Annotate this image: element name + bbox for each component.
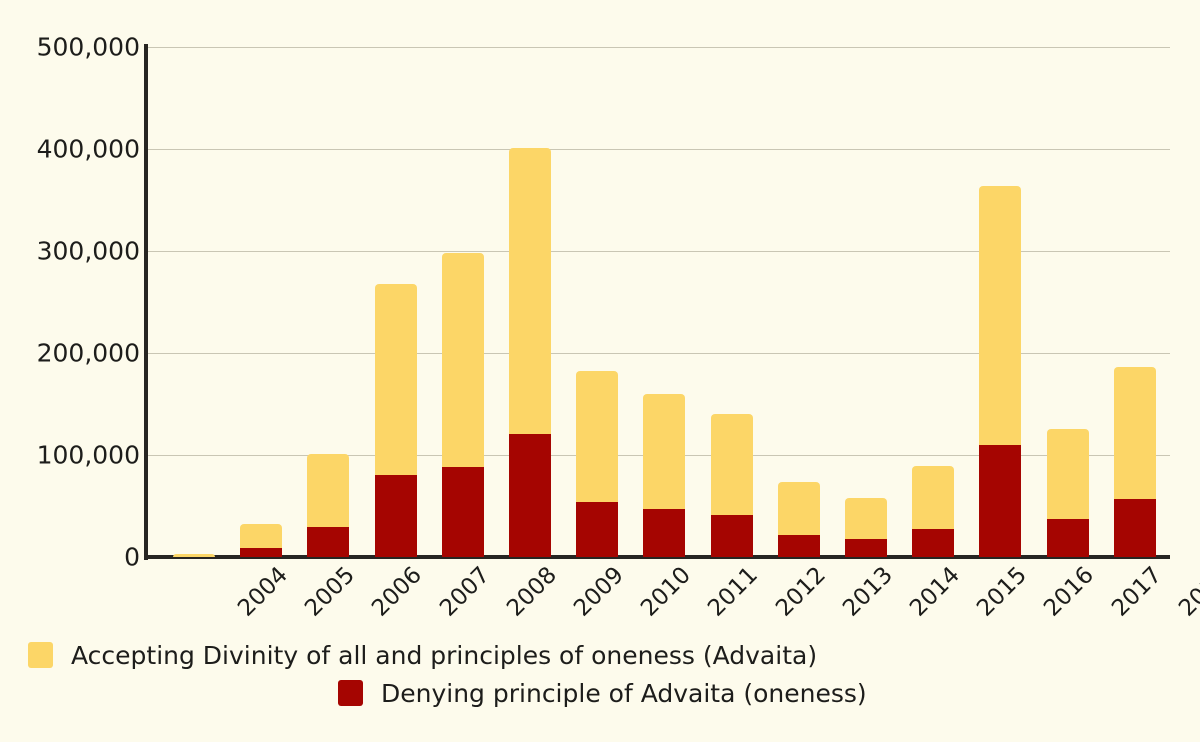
x-axis-tick-label: 2017 <box>1107 562 1167 622</box>
bar-segment-denying[interactable] <box>509 434 551 557</box>
bar-segment-denying[interactable] <box>1114 499 1156 557</box>
bar-segment-accepting[interactable] <box>576 371 618 502</box>
x-axis-tick-label: 2006 <box>368 562 428 622</box>
x-axis-tick-label: 2009 <box>569 562 629 622</box>
legend-label-accepting: Accepting Divinity of all and principles… <box>71 641 817 670</box>
bar-segment-denying[interactable] <box>1047 519 1089 557</box>
bar-segment-denying[interactable] <box>979 445 1021 557</box>
bar-segment-accepting[interactable] <box>173 554 215 557</box>
bar-segment-accepting[interactable] <box>711 414 753 515</box>
bar-segment-denying[interactable] <box>240 548 282 557</box>
bar-segment-accepting[interactable] <box>778 482 820 535</box>
y-axis-tick-label: 500,000 <box>5 33 140 62</box>
bar-series-container <box>148 47 1170 557</box>
bar-segment-denying[interactable] <box>711 515 753 557</box>
y-axis-tick-label: 400,000 <box>5 135 140 164</box>
chart-legend: Accepting Divinity of all and principles… <box>0 636 1200 712</box>
bar-segment-denying[interactable] <box>375 475 417 557</box>
y-axis-tick-label: 200,000 <box>5 339 140 368</box>
bar-segment-accepting[interactable] <box>1047 429 1089 520</box>
legend-item-accepting[interactable]: Accepting Divinity of all and principles… <box>0 636 1200 674</box>
x-axis-tick-label: 2016 <box>1040 562 1100 622</box>
x-axis-tick-label: 2015 <box>972 562 1032 622</box>
bar-segment-denying[interactable] <box>912 529 954 557</box>
x-axis-tick-label: 2012 <box>771 562 831 622</box>
legend-label-denying: Denying principle of Advaita (oneness) <box>381 679 867 708</box>
x-axis-tick-label: 2004 <box>233 562 293 622</box>
legend-swatch-accepting <box>28 642 53 668</box>
y-axis-tick-label: 0 <box>5 543 140 572</box>
bar-segment-accepting[interactable] <box>643 394 685 509</box>
x-axis-tick-label: 2011 <box>704 562 764 622</box>
bar-segment-denying[interactable] <box>576 502 618 557</box>
bar-segment-denying[interactable] <box>442 467 484 557</box>
y-axis-tick-label: 300,000 <box>5 237 140 266</box>
bar-segment-accepting[interactable] <box>307 454 349 527</box>
legend-item-denying[interactable]: Denying principle of Advaita (oneness) <box>0 674 1200 712</box>
bar-segment-denying[interactable] <box>845 539 887 557</box>
x-axis-tick-label: 2018 <box>1174 562 1200 622</box>
stacked-bar-chart: 500,000400,000300,000200,000100,0000 200… <box>0 0 1200 742</box>
x-axis-tick-label: 2010 <box>636 562 696 622</box>
x-axis-tick-label: 2005 <box>300 562 360 622</box>
y-axis-tick-label: 100,000 <box>5 441 140 470</box>
bar-segment-accepting[interactable] <box>845 498 887 539</box>
bar-segment-accepting[interactable] <box>912 466 954 529</box>
x-axis-tick-labels: 2004200520062007200820092010201120122013… <box>148 562 1170 632</box>
x-axis-tick-label: 2013 <box>838 562 898 622</box>
bar-segment-accepting[interactable] <box>979 186 1021 445</box>
bar-segment-denying[interactable] <box>307 527 349 557</box>
bar-segment-denying[interactable] <box>643 509 685 557</box>
x-axis-tick-label: 2008 <box>502 562 562 622</box>
bar-segment-accepting[interactable] <box>509 148 551 434</box>
y-axis-tick-labels: 500,000400,000300,000200,000100,0000 <box>0 0 140 742</box>
bar-segment-accepting[interactable] <box>1114 367 1156 499</box>
bar-segment-accepting[interactable] <box>375 284 417 476</box>
x-axis-tick-label: 2014 <box>905 562 965 622</box>
bar-segment-accepting[interactable] <box>442 253 484 467</box>
bar-segment-denying[interactable] <box>778 535 820 557</box>
legend-swatch-denying <box>338 680 363 706</box>
bar-segment-accepting[interactable] <box>240 524 282 547</box>
x-axis-tick-label: 2007 <box>435 562 495 622</box>
